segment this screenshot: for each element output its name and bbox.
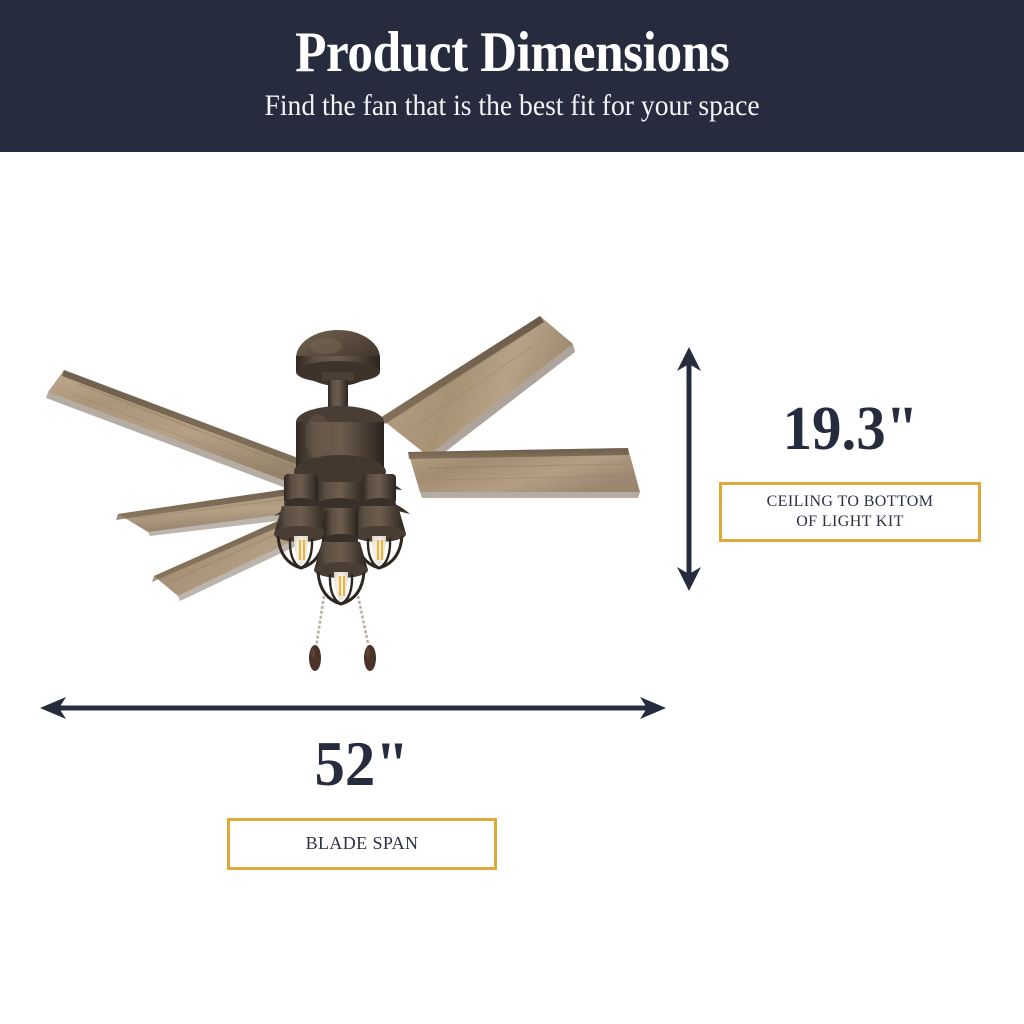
header-banner: Product Dimensions Find the fan that is … xyxy=(0,0,1024,152)
ceiling-fan-illustration xyxy=(28,296,668,686)
height-label-line-1: CEILING TO BOTTOM xyxy=(767,493,934,510)
infographic-page: Product Dimensions Find the fan that is … xyxy=(0,0,1024,1024)
pull-chain-right xyxy=(358,596,376,671)
pull-chain-left xyxy=(309,596,324,671)
span-dimension-arrow xyxy=(38,688,668,728)
span-value: 52" xyxy=(315,732,410,796)
fan-blade-3 xyxy=(46,370,314,494)
span-label-box: BLADE SPAN xyxy=(227,818,497,870)
height-callout: 19.3" CEILING TO BOTTOM OF LIGHT KIT xyxy=(714,398,986,542)
height-label-line-2: OF LIGHT KIT xyxy=(796,513,904,530)
height-dimension-arrow xyxy=(668,345,710,593)
fan-blade-1 xyxy=(380,316,575,462)
fan-blade-2 xyxy=(408,448,640,498)
height-label: CEILING TO BOTTOM OF LIGHT KIT xyxy=(767,492,934,531)
span-callout: 52" BLADE SPAN xyxy=(227,732,497,870)
page-subtitle: Find the fan that is the best fit for yo… xyxy=(264,89,759,122)
page-title: Product Dimensions xyxy=(295,24,729,82)
height-label-box: CEILING TO BOTTOM OF LIGHT KIT xyxy=(719,482,981,542)
height-value: 19.3" xyxy=(782,398,918,460)
span-label: BLADE SPAN xyxy=(306,833,419,855)
